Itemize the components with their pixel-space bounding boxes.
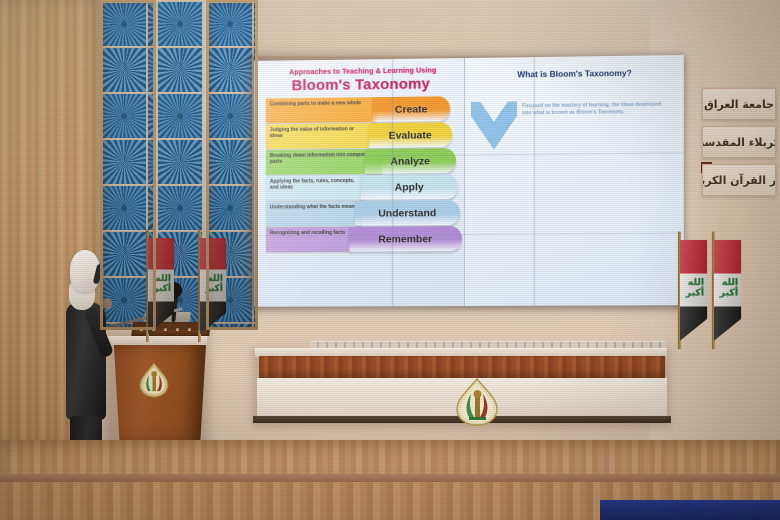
calligraphy-panel-3: دار القرآن الكريم (702, 164, 776, 196)
flag-fold-shading (714, 240, 741, 341)
taxonomy-level-description: Understanding what the facts mean (266, 201, 363, 227)
table-wood-band (259, 356, 665, 378)
decorative-tile-panel-center (206, 0, 258, 330)
calligraphy-panel-2: كربلاء المقدسة (702, 126, 776, 158)
stage-edge (0, 474, 780, 482)
taxonomy-level-description: Recognizing and recalling facts (266, 227, 351, 252)
taxonomy-level-label: Apply (361, 174, 458, 200)
taxonomy-level-description: Applying the facts, rules, concepts, and… (266, 175, 365, 201)
taxonomy-level-label: Remember (349, 226, 462, 252)
decorative-tile-panel-left (100, 0, 156, 330)
institutional-emblem-table (455, 377, 499, 427)
institutional-emblem-podium (139, 362, 169, 398)
tile-panel-shading (100, 0, 156, 330)
foreground-blue-carpet (600, 500, 780, 520)
conference-hall-photo: جامعة العراق كربلاء المقدسة دار القرآن ا… (0, 0, 780, 520)
taxonomy-level-label: Evaluate (368, 122, 452, 148)
slide-title: Bloom's Taxonomy (264, 75, 458, 94)
taxonomy-level-label: Create (372, 96, 450, 122)
calligraphy-panel-1: جامعة العراق (702, 88, 776, 120)
wall-strip-shading (156, 0, 206, 330)
podium-desktop (107, 336, 208, 346)
taxonomy-level-label: Analyze (365, 148, 456, 174)
taxonomy-level-description: Judging the value of information or idea… (266, 123, 370, 149)
right-slide-title: What is Bloom's Taxonomy? (476, 67, 674, 80)
taxonomy-level-label: Understand (355, 200, 460, 226)
iraqi-flag: الله أكبر (680, 240, 707, 341)
right-slide-body-text: Focused on the mastery of learning, the … (522, 102, 672, 118)
chevron-down-icon (471, 101, 517, 150)
iraqi-flag: الله أكبر (714, 240, 741, 341)
tile-panel-shading-2 (206, 0, 258, 330)
slide-left-panel: Approaches to Teaching & Learning Using … (254, 58, 465, 307)
projection-screen: Approaches to Teaching & Learning Using … (254, 55, 684, 307)
decorative-wall-strip (156, 0, 206, 330)
flag-fold-shading (680, 240, 707, 341)
slide-right-panel: What is Bloom's Taxonomy? Focused on the… (466, 55, 684, 306)
taxonomy-level-description: Combining parts to make a new whole (266, 97, 377, 123)
